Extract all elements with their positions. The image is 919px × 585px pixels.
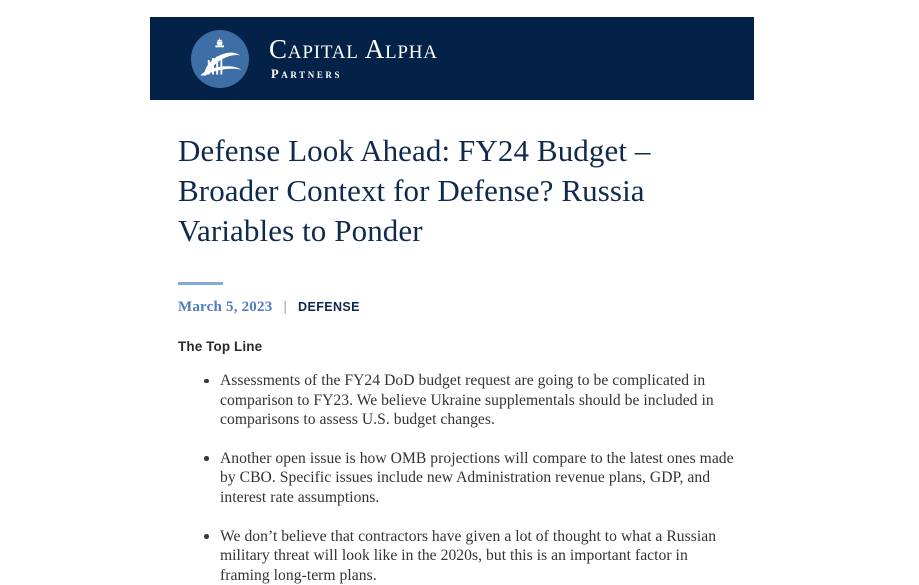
article-page: Capital Alpha Partners Defense Look Ahea… — [0, 0, 919, 584]
list-item-text: We don’t believe that contractors have g… — [220, 527, 738, 585]
article-content: Defense Look Ahead: FY24 Budget – Broade… — [178, 131, 738, 585]
brand-name: Capital Alpha — [269, 35, 438, 64]
bullet-dot-icon — [204, 379, 209, 384]
top-line-bullet-list: Assessments of the FY24 DoD budget reque… — [178, 371, 738, 585]
list-item-text: Assessments of the FY24 DoD budget reque… — [220, 371, 738, 430]
bullet-dot-icon — [204, 456, 209, 461]
bullet-dot-icon — [204, 534, 209, 539]
list-item-text: Another open issue is how OMB projection… — [220, 449, 738, 508]
list-item: We don’t believe that contractors have g… — [178, 527, 738, 585]
category-tag[interactable]: DEFENSE — [298, 300, 360, 314]
brand-wordmark[interactable]: Capital Alpha Partners — [269, 35, 438, 82]
site-masthead: Capital Alpha Partners — [150, 17, 754, 100]
article-meta: March 5, 2023 | DEFENSE — [178, 298, 738, 316]
list-item: Another open issue is how OMB projection… — [178, 449, 738, 508]
brand-tagline: Partners — [271, 67, 438, 82]
section-heading-top-line: The Top Line — [178, 339, 738, 354]
capitol-dome-icon[interactable] — [191, 30, 249, 88]
publish-date: March 5, 2023 — [178, 299, 272, 316]
list-item: Assessments of the FY24 DoD budget reque… — [178, 371, 738, 430]
page-title: Defense Look Ahead: FY24 Budget – Broade… — [178, 131, 708, 251]
title-divider — [178, 282, 223, 285]
meta-separator: | — [283, 298, 287, 314]
